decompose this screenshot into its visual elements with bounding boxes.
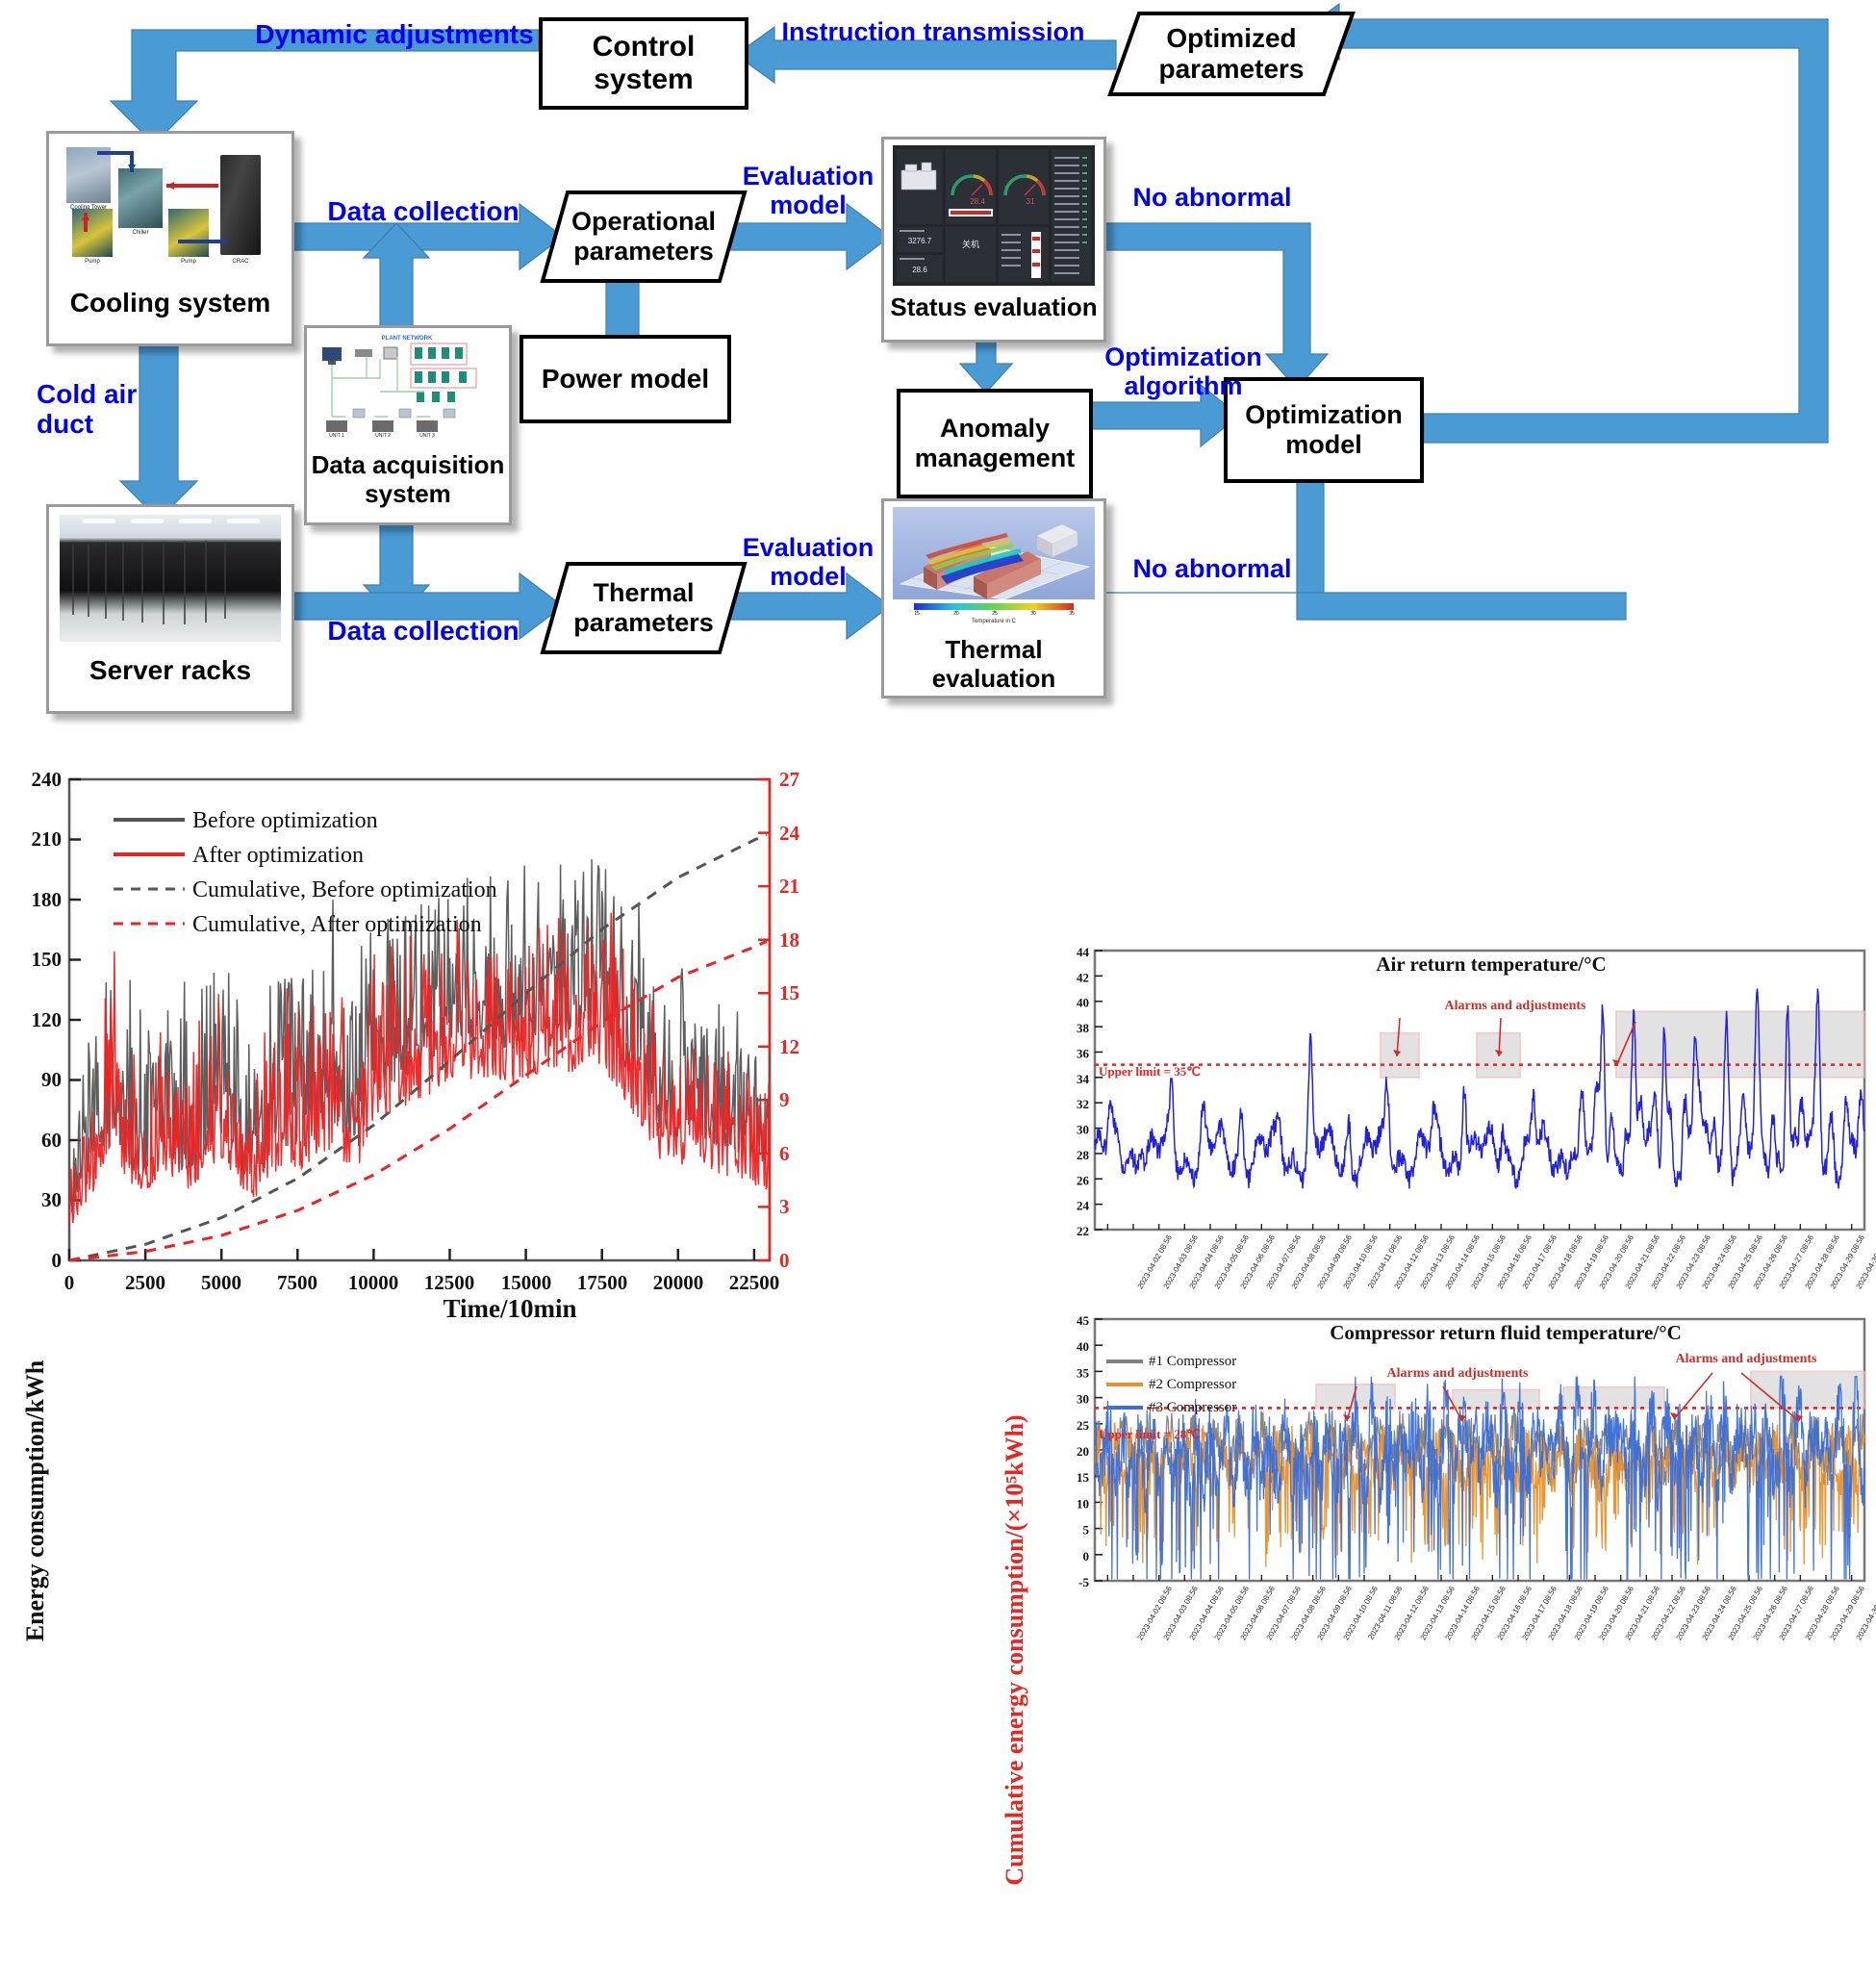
- node-optimized-parameters-label: Optimized parameters: [1159, 23, 1305, 85]
- node-anomaly-management-label: Anomaly management: [915, 414, 1076, 473]
- svg-text:44: 44: [1077, 945, 1090, 959]
- svg-text:40: 40: [1077, 996, 1089, 1010]
- svg-text:22500: 22500: [729, 1271, 780, 1294]
- colorbar-tick-15: 15: [908, 611, 925, 617]
- svg-text:15: 15: [1077, 1470, 1090, 1485]
- node-optimization-model-label: Optimization model: [1245, 400, 1403, 460]
- node-server-racks-label: Server racks: [89, 655, 251, 686]
- edge-label-evaluation-model-bottom: Evaluation model: [731, 533, 885, 591]
- chart-compressor-title: Compressor return fluid temperature/°C: [1280, 1321, 1732, 1345]
- colorbar-caption: Temperature in C: [946, 619, 1042, 624]
- node-status-evaluation[interactable]: 28.4 31 3276.7 28.6 关机 Status evaluation: [881, 137, 1106, 343]
- colorbar-tick-25: 25: [986, 611, 1003, 617]
- node-control-system-label: Control system: [593, 31, 696, 97]
- svg-text:5000: 5000: [201, 1271, 241, 1294]
- edge-label-data-collection-bottom: Data collection: [308, 616, 539, 646]
- svg-text:2500: 2500: [125, 1271, 165, 1294]
- svg-text:10: 10: [1077, 1496, 1089, 1511]
- edge-label-instruction-transmission: Instruction transmission: [770, 17, 1097, 46]
- edge-label-dynamic-adjustments: Dynamic adjustments: [241, 19, 548, 49]
- node-power-model-label: Power model: [542, 364, 709, 394]
- svg-text:After optimization: After optimization: [192, 843, 364, 868]
- node-operational-parameters[interactable]: Operational parameters: [539, 189, 748, 285]
- node-operational-parameters-label: Operational parameters: [571, 207, 716, 267]
- status-metric2-value: 28.6: [899, 266, 941, 274]
- svg-text:10000: 10000: [348, 1271, 399, 1294]
- thermal-evaluation-picture: 15 20 25 30 35 Temperature in C: [893, 507, 1095, 628]
- chart-compressor-xticklabels: 2023-04-02 08:562023-04-03 08:562023-04-…: [1039, 1583, 1876, 1679]
- status-evaluation-picture: 28.4 31 3276.7 28.6 关机: [893, 145, 1095, 286]
- svg-text:45: 45: [1077, 1313, 1090, 1328]
- legend-swatch: [1106, 1406, 1143, 1410]
- legend-item: #3 Compressor: [1106, 1396, 1318, 1419]
- data-acquisition-picture: PLANT NETWORK: [317, 334, 499, 442]
- svg-text:34: 34: [1077, 1072, 1090, 1086]
- svg-text:20: 20: [1077, 1444, 1089, 1459]
- daq-unit-2-caption: UNIT 2: [370, 433, 395, 439]
- svg-text:15: 15: [779, 981, 799, 1004]
- svg-text:28: 28: [1077, 1148, 1090, 1162]
- svg-text:36: 36: [1077, 1046, 1090, 1060]
- svg-text:30: 30: [1077, 1392, 1089, 1407]
- svg-text:6: 6: [779, 1142, 790, 1165]
- colorbar-tick-20: 20: [948, 611, 965, 617]
- legend-item: #1 Compressor: [1106, 1350, 1318, 1373]
- svg-text:20000: 20000: [653, 1271, 704, 1294]
- chart-energy-consumption: Energy consumption/kWh Cumulative energy…: [0, 750, 1039, 1674]
- svg-text:24: 24: [779, 822, 800, 845]
- chart-compressor-threshold-label: Upper limit = 28℃: [1099, 1427, 1272, 1442]
- svg-text:210: 210: [32, 827, 63, 851]
- node-data-acquisition-system-label: Data acquisition system: [312, 451, 505, 509]
- chart-air-return-title: Air return temperature/°C: [1308, 953, 1674, 977]
- svg-text:35: 35: [1077, 1365, 1090, 1380]
- svg-text:0: 0: [52, 1249, 63, 1272]
- edge-label-data-collection-top: Data collection: [308, 196, 539, 226]
- svg-text:12500: 12500: [424, 1271, 475, 1294]
- edge-label-no-abnormal-top: No abnormal: [1116, 183, 1308, 212]
- chart-air-return-threshold-label: Upper limit = 35℃: [1099, 1064, 1272, 1080]
- node-status-evaluation-label: Status evaluation: [890, 293, 1097, 322]
- node-cooling-system[interactable]: Cooling Tower Chiller Pump Pump CRAC Coo…: [46, 131, 294, 346]
- svg-text:25: 25: [1077, 1418, 1090, 1433]
- svg-text:240: 240: [32, 768, 63, 791]
- node-power-model[interactable]: Power model: [520, 335, 731, 423]
- daq-unit-3-caption: UNIT 3: [415, 433, 440, 439]
- edge-label-evaluation-model-top: Evaluation model: [731, 162, 885, 219]
- svg-text:Before optimization: Before optimization: [192, 808, 378, 833]
- svg-text:18: 18: [779, 928, 799, 952]
- svg-text:26: 26: [1077, 1173, 1090, 1187]
- chart-air-return-annotation: Alarms and adjustments: [1395, 999, 1635, 1014]
- legend-label: #2 Compressor: [1149, 1377, 1236, 1393]
- svg-text:21: 21: [779, 875, 799, 898]
- status-metric1-value: 3276.7: [899, 237, 941, 245]
- svg-text:15000: 15000: [501, 1271, 552, 1294]
- svg-text:30: 30: [41, 1188, 62, 1211]
- edge-label-cold-air-duct: Cold air duct: [37, 379, 162, 440]
- svg-text:24: 24: [1077, 1199, 1090, 1213]
- cooling-system-picture: Cooling Tower Chiller Pump Pump CRAC: [59, 140, 282, 274]
- colorbar-tick-35: 35: [1063, 611, 1080, 617]
- status-gauge1-value: 28.4: [958, 197, 997, 206]
- svg-text:60: 60: [41, 1129, 62, 1152]
- svg-text:0: 0: [779, 1249, 790, 1272]
- node-thermal-parameters-label: Thermal parameters: [573, 578, 714, 638]
- daq-unit-1-caption: UNIT 1: [324, 433, 349, 439]
- legend-swatch: [1106, 1383, 1143, 1386]
- status-gauge2-value: 31: [1011, 197, 1050, 206]
- svg-text:32: 32: [1077, 1097, 1089, 1111]
- svg-text:Cumulative, Before optimizatio: Cumulative, Before optimization: [192, 877, 497, 902]
- legend-swatch: [1106, 1359, 1143, 1363]
- svg-text:12: 12: [779, 1035, 799, 1058]
- status-state-value: 关机: [949, 238, 993, 250]
- edge-label-no-abnormal-bottom: No abnormal: [1116, 554, 1308, 583]
- legend-label: #3 Compressor: [1149, 1400, 1236, 1416]
- chart-compressor-legend: #1 Compressor#2 Compressor#3 Compressor: [1106, 1350, 1318, 1427]
- node-thermal-evaluation[interactable]: 15 20 25 30 35 Temperature in C Thermal …: [881, 498, 1106, 699]
- node-optimized-parameters[interactable]: Optimized parameters: [1106, 10, 1356, 98]
- server-racks-picture: [60, 515, 281, 642]
- node-thermal-parameters[interactable]: Thermal parameters: [539, 560, 748, 656]
- svg-text:40: 40: [1077, 1339, 1089, 1354]
- svg-text:90: 90: [41, 1068, 62, 1091]
- node-data-acquisition-system[interactable]: PLANT NETWORK: [304, 325, 512, 525]
- node-anomaly-management[interactable]: Anomaly management: [897, 389, 1093, 498]
- svg-text:42: 42: [1077, 970, 1089, 984]
- svg-text:Cumulative, After optimization: Cumulative, After optimization: [192, 912, 482, 937]
- colorbar-tick-30: 30: [1025, 611, 1042, 617]
- node-cooling-system-label: Cooling system: [70, 288, 270, 318]
- svg-text:180: 180: [32, 888, 63, 911]
- svg-text:3: 3: [779, 1195, 790, 1218]
- svg-text:5: 5: [1083, 1523, 1090, 1537]
- legend-label: #1 Compressor: [1149, 1354, 1236, 1370]
- chart-air-return-temperature: 222426283032343638404244 Air return temp…: [1039, 943, 1876, 1318]
- chart-compressor-annotation-1: Alarms and adjustments: [1337, 1366, 1578, 1382]
- svg-text:27: 27: [779, 768, 799, 791]
- edge-label-optimization-algorithm: Optimization algorithm: [1087, 343, 1280, 400]
- svg-text:120: 120: [32, 1008, 63, 1031]
- svg-text:9: 9: [779, 1088, 790, 1111]
- svg-text:150: 150: [32, 948, 63, 971]
- chart-compressor-annotation-2: Alarms and adjustments: [1626, 1352, 1866, 1367]
- svg-text:38: 38: [1077, 1021, 1090, 1035]
- svg-text:7500: 7500: [277, 1271, 317, 1294]
- node-control-system[interactable]: Control system: [539, 17, 748, 110]
- chart-compressor-return-temperature: -5051015202530354045 Compressor return f…: [1039, 1304, 1876, 1679]
- chart-energy-plot: 03060 90120150 180210240 036 91215 18212…: [0, 750, 1039, 1347]
- flow-diagram: .af{fill:#4a9ad4;stroke:#3d7fae;stroke-w…: [0, 0, 1876, 741]
- svg-text:30: 30: [1077, 1123, 1089, 1137]
- svg-text:17500: 17500: [577, 1271, 628, 1294]
- node-server-racks[interactable]: Server racks: [46, 504, 294, 714]
- svg-text:0: 0: [1083, 1549, 1090, 1563]
- node-thermal-evaluation-label: Thermal evaluation: [884, 636, 1103, 694]
- svg-text:0: 0: [64, 1271, 75, 1294]
- chart-energy-y2label: Cumulative energy consumption/(×10⁵kWh): [1001, 1318, 1029, 1982]
- legend-item: #2 Compressor: [1106, 1373, 1318, 1396]
